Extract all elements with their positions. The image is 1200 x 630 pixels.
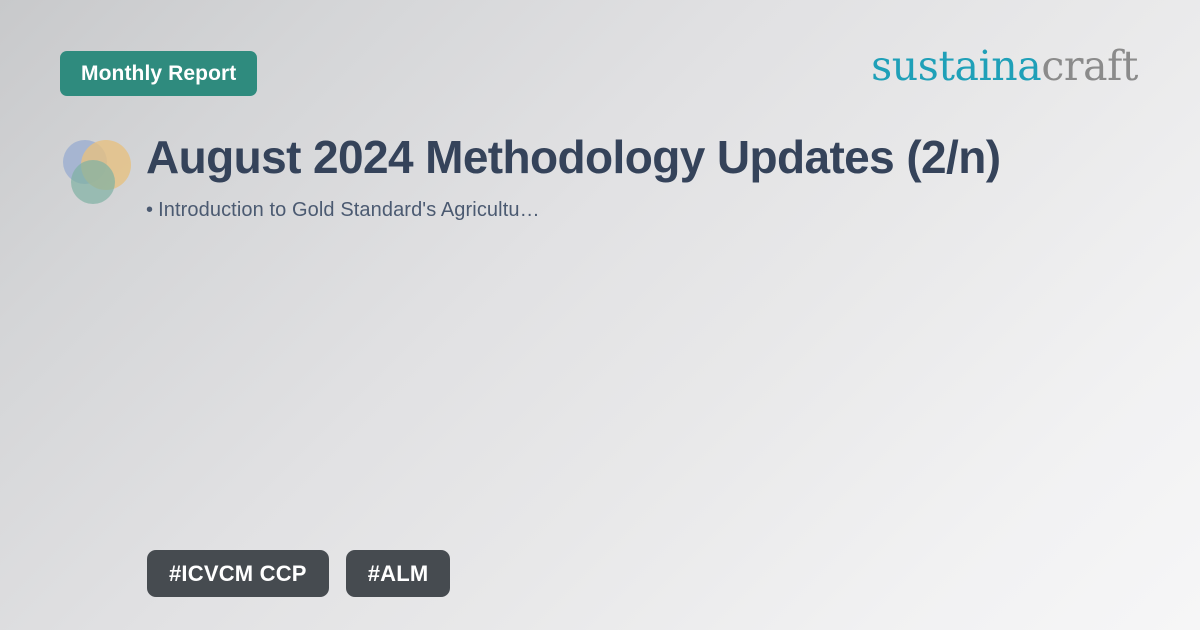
subtitle-line: •Introduction to Gold Standard's Agricul… xyxy=(146,197,1000,223)
sustainacraft-logo-wordmark: sustainacraft xyxy=(871,46,1138,87)
title-block: August 2024 Methodology Updates (2/n) •I… xyxy=(60,133,1140,223)
tag-icvcm-ccp[interactable]: #ICVCM CCP xyxy=(147,550,329,597)
monthly-report-badge: Monthly Report xyxy=(60,51,257,96)
page-title: August 2024 Methodology Updates (2/n) xyxy=(146,133,1000,183)
tag-list: #ICVCM CCP #ALM xyxy=(147,550,450,597)
social-share-card: Monthly Report sustainacraft August 2024… xyxy=(0,0,1200,630)
bullet-glyph: • xyxy=(146,199,153,221)
subtitle-text: Introduction to Gold Standard's Agricult… xyxy=(158,199,540,221)
wordmark-sustaina: sustaina xyxy=(871,42,1041,90)
badge-label: Monthly Report xyxy=(81,62,236,86)
title-text-group: August 2024 Methodology Updates (2/n) •I… xyxy=(146,133,1000,223)
wordmark-craft: craft xyxy=(1041,42,1138,90)
three-overlapping-circles-logo-icon xyxy=(60,135,132,207)
tag-alm[interactable]: #ALM xyxy=(346,550,451,597)
